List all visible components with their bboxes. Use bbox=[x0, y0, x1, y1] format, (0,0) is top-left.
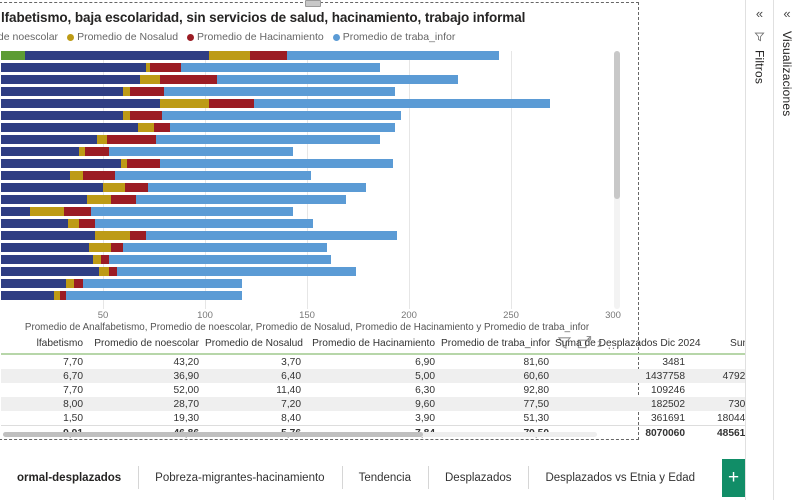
chart-bar-segment[interactable] bbox=[1, 51, 25, 60]
table-cell: 77,50 bbox=[441, 397, 555, 411]
chart-bar-segment[interactable] bbox=[89, 243, 111, 252]
chart-bar-segment[interactable] bbox=[146, 231, 397, 240]
table-row[interactable]: 7,7052,0011,406,3092,80109246 bbox=[1, 383, 757, 397]
visual-title: lfabetismo, baja escolaridad, sin servic… bbox=[1, 10, 630, 25]
visualizations-pane-collapsed[interactable]: « Visualizaciones bbox=[773, 0, 800, 500]
visual-drag-handle[interactable] bbox=[305, 0, 321, 7]
chart-bar-segment[interactable] bbox=[148, 183, 366, 192]
chart-bar-segment[interactable] bbox=[130, 87, 165, 96]
chart-bar-segment[interactable] bbox=[217, 75, 458, 84]
table-cell: 7,70 bbox=[1, 383, 89, 397]
chart-bar-segment[interactable] bbox=[95, 219, 313, 228]
chart-bar-segment[interactable] bbox=[93, 255, 101, 264]
x-axis-tick-label: 250 bbox=[503, 310, 519, 321]
chart-bar-segment[interactable] bbox=[130, 111, 163, 120]
chart-bar-segment[interactable] bbox=[160, 99, 209, 108]
chart-bar-segment[interactable] bbox=[1, 87, 123, 96]
chart-bar-segment[interactable] bbox=[1, 147, 79, 156]
chart-vertical-scrollbar[interactable] bbox=[614, 51, 620, 309]
page-tab[interactable]: Desplazados vs Etnia y Edad bbox=[528, 455, 712, 500]
legend-swatch-icon bbox=[187, 34, 194, 41]
chart-bar-segment[interactable] bbox=[103, 183, 125, 192]
table-cell: 92,80 bbox=[441, 383, 555, 397]
table-cell: 6,30 bbox=[307, 383, 441, 397]
page-tab[interactable]: Pobreza-migrantes-hacinamiento bbox=[138, 455, 341, 500]
chart-bar-segment[interactable] bbox=[1, 219, 68, 228]
chart-bar-segment[interactable] bbox=[66, 291, 241, 300]
chart-bar-segment[interactable] bbox=[125, 183, 147, 192]
table-row[interactable]: 1,5019,308,403,9051,30361691180442 bbox=[1, 411, 757, 426]
chart-bar-segment[interactable] bbox=[107, 135, 156, 144]
chart-bar-segment[interactable] bbox=[83, 279, 242, 288]
chart-bar-segment[interactable] bbox=[1, 111, 123, 120]
power-bi-report-window: lfabetismo, baja escolaridad, sin servic… bbox=[0, 0, 800, 500]
chart-bar-segment[interactable] bbox=[1, 159, 121, 168]
table-column-header[interactable]: Promedio de Nosalud bbox=[205, 336, 307, 354]
chart-bar-segment[interactable] bbox=[91, 207, 293, 216]
chart-bar-segment[interactable] bbox=[111, 243, 123, 252]
table-column-header[interactable]: Suma de Desplazados Dic 2024 bbox=[555, 336, 691, 354]
chart-bar-segment[interactable] bbox=[136, 195, 346, 204]
legend-item[interactable]: dio de noescolar bbox=[0, 31, 58, 43]
table-cell: 182502 bbox=[555, 397, 691, 411]
chart-bar-segment[interactable] bbox=[209, 51, 250, 60]
table-cell: 6,90 bbox=[307, 354, 441, 369]
chart-bar-segment[interactable] bbox=[25, 51, 209, 60]
chart-bar-segment[interactable] bbox=[1, 291, 54, 300]
table-row[interactable]: 7,7043,203,706,9081,603481 bbox=[1, 354, 757, 369]
table-cell: 5,00 bbox=[307, 369, 441, 383]
chart-x-axis-title: Promedio de Analfabetismo, Promedio de n… bbox=[1, 322, 613, 333]
table-cell: 3481 bbox=[555, 354, 691, 369]
x-axis-tick-label: 50 bbox=[98, 310, 109, 321]
chart-bar-segment[interactable] bbox=[99, 267, 109, 276]
legend-label: Promedio de Nosalud bbox=[77, 31, 178, 43]
chart-bar-segment[interactable] bbox=[140, 75, 160, 84]
legend-label: Promedio de Hacinamiento bbox=[197, 31, 324, 43]
chart-bar-segment[interactable] bbox=[111, 195, 135, 204]
table-cell: 9,60 bbox=[307, 397, 441, 411]
x-axis-tick-label: 300 bbox=[605, 310, 621, 321]
legend-item[interactable]: Promedio de Hacinamiento bbox=[187, 31, 324, 43]
chart-bar-segment[interactable] bbox=[156, 135, 380, 144]
chart-bar-segment[interactable] bbox=[66, 279, 74, 288]
chart-bar-segment[interactable] bbox=[109, 267, 117, 276]
expand-visualizations-chevron-icon[interactable]: « bbox=[783, 7, 790, 20]
chart-bar-segment[interactable] bbox=[154, 123, 170, 132]
table-cell: 36,90 bbox=[89, 369, 205, 383]
table-cell: 8,40 bbox=[205, 411, 307, 426]
table-cell: 7,20 bbox=[205, 397, 307, 411]
chart-bar-segment[interactable] bbox=[254, 99, 550, 108]
chart-bar-segment[interactable] bbox=[1, 243, 89, 252]
page-tab-bar[interactable]: ormal-desplazadosPobreza-migrantes-hacin… bbox=[0, 455, 745, 500]
chart-bar-segment[interactable] bbox=[150, 63, 181, 72]
data-table-visual[interactable]: 2 … lfabetismoPromedio de noescolarProme… bbox=[1, 336, 613, 436]
chart-bar-segment[interactable] bbox=[1, 231, 95, 240]
table-cell: 28,70 bbox=[89, 397, 205, 411]
chart-bar-segment[interactable] bbox=[130, 231, 146, 240]
chart-bar-segment[interactable] bbox=[85, 147, 109, 156]
chart-bar-segment[interactable] bbox=[287, 51, 499, 60]
chart-bar-segment[interactable] bbox=[1, 135, 97, 144]
legend-label: dio de noescolar bbox=[0, 31, 58, 43]
chart-bar-segment[interactable] bbox=[1, 183, 103, 192]
table-column-header[interactable]: Promedio de traba_infor bbox=[441, 336, 555, 354]
chart-scroll-thumb[interactable] bbox=[614, 51, 620, 199]
chart-bar-segment[interactable] bbox=[109, 147, 293, 156]
report-canvas[interactable]: lfabetismo, baja escolaridad, sin servic… bbox=[0, 0, 745, 455]
table-horizontal-scrollbar[interactable] bbox=[3, 432, 597, 437]
table-cell: 60,60 bbox=[441, 369, 555, 383]
chart-bar-segment[interactable] bbox=[1, 123, 138, 132]
chart-legend: dio de noescolarPromedio de NosaludProme… bbox=[0, 31, 455, 43]
add-page-button[interactable]: + bbox=[722, 459, 745, 497]
chart-bar-segment[interactable] bbox=[127, 159, 160, 168]
chart-bar-segment[interactable] bbox=[70, 171, 82, 180]
chart-bar-segment[interactable] bbox=[162, 111, 401, 120]
chart-bar-segment[interactable] bbox=[164, 87, 395, 96]
table-row[interactable]: 8,0028,707,209,6077,501825027303 bbox=[1, 397, 757, 411]
chart-bar-segment[interactable] bbox=[109, 255, 331, 264]
chart-bar-segment[interactable] bbox=[115, 171, 311, 180]
table-scroll-thumb[interactable] bbox=[3, 432, 423, 437]
funnel-icon bbox=[754, 31, 765, 45]
data-table[interactable]: lfabetismoPromedio de noescolarPromedio … bbox=[1, 336, 757, 440]
chart-bar-segment[interactable] bbox=[83, 171, 116, 180]
page-tab[interactable]: ormal-desplazados bbox=[0, 455, 138, 500]
chart-gridline bbox=[409, 51, 410, 309]
chart-bar-segment[interactable] bbox=[160, 75, 217, 84]
chart-bar-segment[interactable] bbox=[1, 99, 160, 108]
table-cell: 1,50 bbox=[1, 411, 89, 426]
table-cell: 3,70 bbox=[205, 354, 307, 369]
chart-bar-segment[interactable] bbox=[1, 207, 30, 216]
table-cell: 8,00 bbox=[1, 397, 89, 411]
x-axis-tick-label: 150 bbox=[299, 310, 315, 321]
chart-plot-area[interactable] bbox=[1, 51, 613, 309]
table-cell: 1437758 bbox=[555, 369, 691, 383]
legend-swatch-icon bbox=[333, 34, 340, 41]
chart-bar-segment[interactable] bbox=[95, 231, 130, 240]
table-cell: 19,30 bbox=[89, 411, 205, 426]
chart-bar-segment[interactable] bbox=[1, 63, 146, 72]
x-axis-tick-label: 100 bbox=[197, 310, 213, 321]
filters-pane-collapsed[interactable]: « Filtros bbox=[745, 0, 773, 500]
chart-bar-segment[interactable] bbox=[1, 171, 70, 180]
chart-bar-segment[interactable] bbox=[30, 207, 65, 216]
chart-bar-segment[interactable] bbox=[1, 195, 87, 204]
table-cell: 109246 bbox=[555, 383, 691, 397]
table-header-row: lfabetismoPromedio de noescolarPromedio … bbox=[1, 336, 757, 354]
chart-bar-segment[interactable] bbox=[1, 267, 99, 276]
chart-bar-segment[interactable] bbox=[1, 279, 66, 288]
table-cell: 51,30 bbox=[441, 411, 555, 426]
table-row[interactable]: 6,7036,906,405,0060,60143775847920 bbox=[1, 369, 757, 383]
page-tab[interactable]: Desplazados bbox=[428, 455, 528, 500]
chart-bar-segment[interactable] bbox=[64, 207, 91, 216]
legend-item[interactable]: Promedio de Nosalud bbox=[67, 31, 178, 43]
table-cell: 7,70 bbox=[1, 354, 89, 369]
table-cell: 3,90 bbox=[307, 411, 441, 426]
table-cell: 11,40 bbox=[205, 383, 307, 397]
table-cell: 81,60 bbox=[441, 354, 555, 369]
table-cell: 6,70 bbox=[1, 369, 89, 383]
table-cell: 361691 bbox=[555, 411, 691, 426]
chart-bar-segment[interactable] bbox=[1, 255, 93, 264]
chart-bar-segment[interactable] bbox=[170, 123, 394, 132]
legend-swatch-icon bbox=[67, 34, 74, 41]
chart-bar-segment[interactable] bbox=[138, 123, 154, 132]
legend-label: Promedio de traba_infor bbox=[343, 31, 456, 43]
page-tab[interactable]: Tendencia bbox=[342, 455, 428, 500]
chart-bar-segment[interactable] bbox=[160, 159, 393, 168]
chart-bar-segment[interactable] bbox=[74, 279, 82, 288]
chart-bar-segment[interactable] bbox=[68, 219, 78, 228]
table-column-header[interactable]: Promedio de Hacinamiento bbox=[307, 336, 441, 354]
chart-bar-segment[interactable] bbox=[123, 243, 327, 252]
table-cell: 6,40 bbox=[205, 369, 307, 383]
legend-item[interactable]: Promedio de traba_infor bbox=[333, 31, 456, 43]
filters-pane-label: Filtros bbox=[753, 50, 767, 84]
chart-bar-segment[interactable] bbox=[117, 267, 356, 276]
table-cell: 43,20 bbox=[89, 354, 205, 369]
table-column-header[interactable]: Promedio de noescolar bbox=[89, 336, 205, 354]
expand-filters-chevron-icon[interactable]: « bbox=[756, 7, 763, 20]
table-column-header[interactable]: lfabetismo bbox=[1, 336, 89, 354]
chart-bar-segment[interactable] bbox=[250, 51, 287, 60]
stacked-bar-chart-visual[interactable]: lfabetismo, baja escolaridad, sin servic… bbox=[0, 2, 639, 440]
chart-bar-segment[interactable] bbox=[101, 255, 109, 264]
chart-bar-segment[interactable] bbox=[209, 99, 254, 108]
x-axis-tick-label: 200 bbox=[401, 310, 417, 321]
chart-bar-segment[interactable] bbox=[79, 219, 95, 228]
chart-bar-segment[interactable] bbox=[1, 75, 140, 84]
table-cell: 52,00 bbox=[89, 383, 205, 397]
chart-bar-segment[interactable] bbox=[181, 63, 381, 72]
table-body[interactable]: 7,7043,203,706,9081,6034816,7036,906,405… bbox=[1, 354, 757, 440]
visualizations-pane-label: Visualizaciones bbox=[780, 31, 794, 117]
chart-bar-segment[interactable] bbox=[97, 135, 107, 144]
chart-bar-segment[interactable] bbox=[87, 195, 111, 204]
chart-gridline bbox=[511, 51, 512, 309]
